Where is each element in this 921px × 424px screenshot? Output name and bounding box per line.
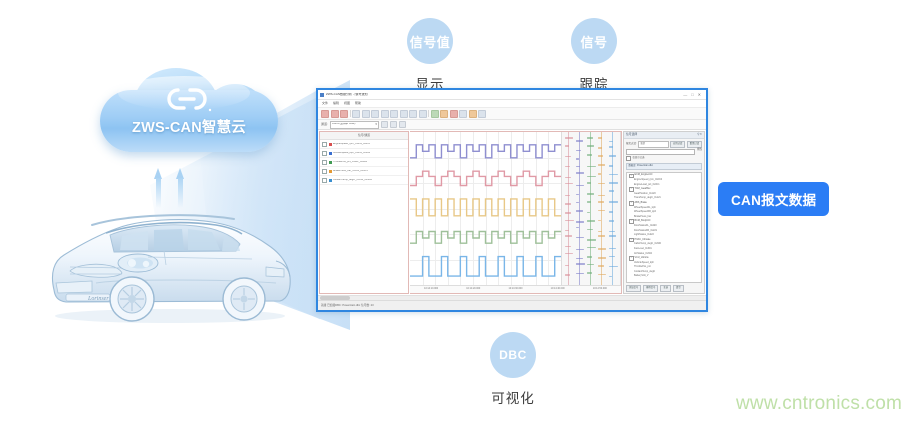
trace-marker xyxy=(576,273,584,274)
trace-marker xyxy=(598,220,601,221)
trace-marker xyxy=(565,274,570,275)
dbc-signal-tree[interactable]: +ECM_EngineCtrlEngineSpeed_rpm_0x0C0Engi… xyxy=(626,172,702,284)
trace-marker xyxy=(576,210,583,211)
trace-marker xyxy=(609,201,618,202)
checkbox-icon[interactable] xyxy=(322,142,327,147)
menu-item-view[interactable]: 视图 xyxy=(344,102,350,105)
app-icon xyxy=(320,93,324,97)
x-axis-tick: 10:14:10.000 xyxy=(424,288,438,291)
expand-icon[interactable]: + xyxy=(629,256,634,261)
dbc-panel-header: 信号选择 ⚲✕ xyxy=(624,132,704,139)
dbc-node-label: VehicleSpeed_kph xyxy=(634,262,654,265)
chart-icon[interactable] xyxy=(352,110,360,118)
trace-marker xyxy=(587,137,593,138)
trace-marker xyxy=(598,235,605,236)
trace-marker xyxy=(565,145,569,146)
trace-line xyxy=(579,132,580,285)
settings-icon[interactable] xyxy=(478,110,486,118)
dbc-node-label: TCM_GearBox xyxy=(635,188,651,191)
trace-marker xyxy=(598,210,605,211)
dbc-panel-title: 信号选择 xyxy=(626,133,637,136)
horizontal-scrollbar[interactable] xyxy=(318,295,706,300)
cloud-badge: ZWS-CAN智慧云 xyxy=(100,68,278,160)
dbc-node-label: WheelSpeedFR_kph xyxy=(634,211,656,214)
expand-icon[interactable]: + xyxy=(629,238,634,243)
dbc-node-label: TransTemp_degC_0x121 xyxy=(634,197,661,200)
signal-list-header: 信号/通道 xyxy=(320,132,408,140)
dbc-node-label: LightStatus_0x222 xyxy=(634,234,654,237)
application-window: ZWS-CAN数据分析 - [信号波形] — □ ✕ 文件 编辑 视图 帮助 xyxy=(316,88,708,312)
color-swatch xyxy=(329,170,332,173)
trace-marker xyxy=(598,173,601,174)
dbc-apply-filter-button[interactable]: 应用过滤 xyxy=(670,141,685,148)
trace-marker xyxy=(565,183,573,184)
trace-marker xyxy=(587,239,596,240)
main-toolbar xyxy=(318,108,706,120)
x-axis-tick: 10:14:20.000 xyxy=(466,288,480,291)
trace-marker xyxy=(609,190,614,191)
vehicle-illustration: Lorinser xyxy=(40,195,300,325)
cloud-label: ZWS-CAN智慧云 xyxy=(100,116,278,137)
dbc-footer-button[interactable]: 全选 xyxy=(660,285,671,292)
trace-marker xyxy=(609,155,616,156)
poster-stage: ZWS-CAN智慧云 xyxy=(0,0,921,424)
trace-marker xyxy=(609,235,616,236)
trace-marker xyxy=(598,201,604,202)
signal-name: ThrottlePos_pct_CAN1_0x2B1 xyxy=(333,161,367,164)
trace-marker xyxy=(565,212,571,213)
trace-marker xyxy=(587,154,592,155)
signal-name: CoolantTemp_degC_CAN1_0x4D9 xyxy=(333,179,372,182)
chevron-down-icon: ▾ xyxy=(375,123,378,126)
dbc-node-label: BrakePress_bar xyxy=(634,216,651,219)
x-axis-tick: 10:14:50.000 xyxy=(593,288,607,291)
checkbox-icon[interactable] xyxy=(322,178,327,183)
trace-marker xyxy=(565,137,573,138)
dbc-reset-filter-button[interactable]: 重置过滤 xyxy=(687,141,702,148)
trace-line xyxy=(568,132,569,285)
callout-dbc: DBC 可视化 xyxy=(489,332,537,407)
expand-icon[interactable]: + xyxy=(629,174,634,179)
stop-icon[interactable] xyxy=(450,110,458,118)
window-controls: — □ ✕ xyxy=(683,93,704,97)
waveform-trace xyxy=(410,137,561,163)
menu-item-edit[interactable]: 编辑 xyxy=(333,102,339,105)
pause-icon[interactable] xyxy=(440,110,448,118)
dbc-node-label: BCM_BodyCtrl xyxy=(635,220,651,223)
cloud-link-logo-icon xyxy=(158,82,216,118)
dbc-filter-value: 全部 xyxy=(640,143,645,146)
zoom-in-icon[interactable] xyxy=(371,110,379,118)
trace-marker xyxy=(609,174,618,175)
trace-marker xyxy=(587,220,595,221)
trace-marker xyxy=(587,272,592,273)
trace-marker xyxy=(565,220,574,221)
maximize-button[interactable]: □ xyxy=(691,93,693,97)
trace-marker xyxy=(576,172,584,173)
signal-list-item[interactable]: ThrottlePos_pct_CAN1_0x2B1 xyxy=(320,158,408,167)
dbc-search-row: 查找 xyxy=(626,149,702,155)
marker-icon[interactable] xyxy=(419,110,427,118)
trace-marker xyxy=(587,264,594,265)
trace-marker xyxy=(609,276,612,277)
waveform-plot[interactable] xyxy=(410,132,562,285)
close-button[interactable]: ✕ xyxy=(698,93,701,97)
callout-signal: 信号 跟踪 xyxy=(570,18,618,93)
dbc-filter-row: 报文过滤: 全部 应用过滤 重置过滤 xyxy=(624,139,704,149)
trace-marker xyxy=(598,164,605,165)
x-axis-tick: 10:14:30.000 xyxy=(508,288,522,291)
play-icon[interactable] xyxy=(381,121,388,128)
trace-marker xyxy=(609,141,613,142)
trace-marker xyxy=(598,231,602,232)
minimize-button[interactable]: — xyxy=(683,93,687,97)
dbc-node-label: DoorStatusFL_0x220 xyxy=(634,225,657,228)
trace-marker xyxy=(576,140,583,141)
trace-marker xyxy=(598,265,604,266)
pin-icon[interactable]: ⚲✕ xyxy=(697,133,702,136)
svg-text:Lorinser: Lorinser xyxy=(87,296,109,302)
chart-panel: 10:14:10.00010:14:20.00010:14:30.00010:1… xyxy=(410,131,622,294)
callout-circle-label: DBC xyxy=(490,332,536,378)
trace-marker xyxy=(576,249,584,250)
toolbar-separator xyxy=(350,110,351,117)
menu-item-help[interactable]: 帮助 xyxy=(355,102,361,105)
dbc-footer-button[interactable]: 清空 xyxy=(673,285,684,292)
dbc-signal-panel: 信号选择 ⚲✕ 报文过滤: 全部 应用过滤 重置过滤 查找 xyxy=(623,131,705,294)
site-watermark: www.cntronics.com xyxy=(736,393,902,415)
signal-list-item[interactable]: VehicleSpeed_kph_CAN1_0x1A0 xyxy=(320,149,408,158)
trace-marker xyxy=(587,212,590,213)
signal-trace-panel[interactable] xyxy=(562,132,621,285)
dbc-node-label: EngineSpeed_rpm_0x0C0 xyxy=(634,179,662,182)
trace-marker xyxy=(576,258,583,259)
open-icon[interactable] xyxy=(321,110,329,118)
dbc-node-label: FanLevel_0x301 xyxy=(634,248,652,251)
dbc-node-label: ThrottlePos_pct xyxy=(634,266,651,269)
dbc-search-button[interactable]: 查找 xyxy=(697,149,702,155)
trace-marker xyxy=(576,221,584,222)
color-swatch xyxy=(329,161,332,164)
measure-icon[interactable] xyxy=(409,110,417,118)
channel-toolbar: 通道: CAN1 (波特率 500k) ▾ xyxy=(318,120,706,130)
trace-marker xyxy=(609,256,615,257)
dbc-node-label: ECM_EngineCtrl xyxy=(635,174,653,177)
dbc-filter-label: 报文过滤: xyxy=(626,143,637,146)
trace-marker xyxy=(587,145,594,146)
callout-signal-value: 信号值 显示 xyxy=(406,18,454,93)
expand-icon[interactable]: + xyxy=(629,187,634,192)
status-bar: 就绪 已加载DBC: Powertrain.dbc 信号数: 23 xyxy=(318,300,706,310)
trace-marker xyxy=(609,165,613,166)
signal-list-item[interactable]: BrakePress_bar_CAN1_0x3C4 xyxy=(320,167,408,176)
color-swatch xyxy=(329,152,332,155)
filter-icon[interactable] xyxy=(469,110,477,118)
record-icon[interactable] xyxy=(340,110,348,118)
dbc-footer-button[interactable]: 添加信号 xyxy=(626,285,641,292)
play-icon[interactable] xyxy=(431,110,439,118)
trace-marker xyxy=(587,193,594,194)
zoom-out-icon[interactable] xyxy=(381,110,389,118)
cursor-icon[interactable] xyxy=(400,110,408,118)
trace-marker xyxy=(587,182,591,183)
dbc-search-input[interactable] xyxy=(626,149,695,155)
dbc-node-label: WheelSpeedFL_kph xyxy=(634,207,656,210)
expand-icon[interactable]: + xyxy=(629,219,634,224)
trace-marker xyxy=(565,156,571,157)
export-icon[interactable] xyxy=(459,110,467,118)
window-titlebar: ZWS-CAN数据分析 - [信号波形] — □ ✕ xyxy=(318,90,706,100)
trace-marker xyxy=(576,202,579,203)
signal-name: VehicleSpeed_kph_CAN1_0x1A0 xyxy=(333,152,370,155)
expand-icon[interactable]: + xyxy=(629,201,634,206)
signal-list-panel: 信号/通道 EngineSpeed_rpm_CAN1_0x0C0VehicleS… xyxy=(319,131,409,294)
toolbar-separator xyxy=(428,110,429,117)
trace-marker xyxy=(587,256,592,257)
channel-select-value: CAN1 (波特率 500k) xyxy=(332,123,375,126)
stop-icon[interactable] xyxy=(390,121,397,128)
trace-marker xyxy=(598,147,602,148)
dbc-database-bar: 数据库: Powertrain.dbc xyxy=(626,163,702,171)
delete-icon[interactable] xyxy=(399,121,406,128)
dbc-node-label: DoorStatusFR_0x221 xyxy=(634,230,657,233)
signal-list-item[interactable]: EngineSpeed_rpm_CAN1_0x0C0 xyxy=(320,140,408,149)
signal-name: EngineSpeed_rpm_CAN1_0x0C0 xyxy=(333,143,370,146)
trace-marker xyxy=(598,195,605,196)
waveform-trace xyxy=(410,166,561,192)
trace-marker xyxy=(598,155,603,156)
workspace: 信号/通道 EngineSpeed_rpm_CAN1_0x0C0VehicleS… xyxy=(318,130,706,295)
channel-select[interactable]: CAN1 (波特率 500k) ▾ xyxy=(330,121,379,129)
checkbox-icon[interactable] xyxy=(322,169,327,174)
trace-marker xyxy=(565,235,572,236)
signal-name: BrakePress_bar_CAN1_0x3C4 xyxy=(333,170,368,173)
trace-marker xyxy=(609,182,618,183)
signal-rows: EngineSpeed_rpm_CAN1_0x0C0VehicleSpeed_k… xyxy=(320,140,408,185)
trace-marker xyxy=(587,166,596,167)
checkbox-icon xyxy=(626,156,631,161)
chart-row xyxy=(410,132,621,285)
dbc-node-label: VCU_Vehicle xyxy=(635,257,649,260)
trace-marker xyxy=(576,158,579,159)
callout-circle-label: 信号 xyxy=(571,18,617,64)
checkbox-icon[interactable] xyxy=(322,151,327,156)
callout-circle-label: 信号值 xyxy=(407,18,453,64)
trace-marker xyxy=(576,166,580,167)
signal-list-item[interactable]: CoolantTemp_degC_CAN1_0x4D9 xyxy=(320,176,408,185)
trace-marker xyxy=(576,263,585,264)
trace-marker xyxy=(598,248,606,249)
dbc-node-label: BatteryVolt_V xyxy=(634,275,649,278)
color-swatch xyxy=(329,143,332,146)
trace-marker xyxy=(587,247,596,248)
dbc-checkbox-label: 仅显示已选 xyxy=(633,157,645,160)
dbc-node-label: EngineLoad_pct_0x0C1 xyxy=(634,184,660,187)
save-icon[interactable] xyxy=(331,110,339,118)
trace-marker xyxy=(609,146,613,147)
waveform-trace xyxy=(410,225,561,251)
dbc-filter-select[interactable]: 全部 xyxy=(638,141,668,148)
scrollbar-thumb[interactable] xyxy=(320,296,350,300)
dbc-node-label: ACStatus_0x302 xyxy=(634,253,652,256)
trace-marker xyxy=(609,211,613,212)
trace-marker xyxy=(565,203,571,204)
trace-marker xyxy=(598,257,606,258)
trace-marker xyxy=(598,137,602,138)
menu-bar: 文件 编辑 视图 帮助 xyxy=(318,100,706,108)
dbc-tree-signal[interactable]: BatteryVolt_V xyxy=(627,275,701,280)
x-axis-tick: 10:14:40.000 xyxy=(551,288,565,291)
channel-label: 通道: xyxy=(321,123,328,126)
trace-marker xyxy=(587,176,596,177)
window-title: ZWS-CAN数据分析 - [信号波形] xyxy=(326,93,368,96)
trace-marker xyxy=(609,220,614,221)
fit-icon[interactable] xyxy=(390,110,398,118)
trace-marker xyxy=(576,185,584,186)
trace-marker xyxy=(576,194,579,195)
trace-marker xyxy=(565,195,570,196)
callout-caption: 可视化 xyxy=(489,387,537,407)
waveform-trace xyxy=(410,195,561,221)
dbc-footer-buttons: 添加信号移除信号全选清空 xyxy=(624,283,704,293)
trace-marker xyxy=(587,201,591,202)
dbc-footer-button[interactable]: 移除信号 xyxy=(643,285,658,292)
color-swatch xyxy=(329,179,332,182)
trace-marker xyxy=(609,248,616,249)
can-data-tag: CAN报文数据 xyxy=(718,182,829,216)
waveform-trace xyxy=(410,254,561,280)
menu-item-file[interactable]: 文件 xyxy=(322,102,328,105)
dbc-node-label: CoolantTemp_degC xyxy=(634,271,655,274)
x-axis-ticks: 10:14:10.00010:14:20.00010:14:30.00010:1… xyxy=(410,285,621,293)
dbc-node-label: CabinTemp_degC_0x300 xyxy=(634,243,661,246)
dbc-node-label: ABS_Brake xyxy=(635,202,647,205)
checkbox-icon[interactable] xyxy=(322,160,327,165)
trace-marker xyxy=(565,177,571,178)
grid-icon[interactable] xyxy=(362,110,370,118)
trace-marker xyxy=(609,266,618,267)
dbc-node-label: HVAC_Climate xyxy=(635,239,651,242)
dbc-node-label: GearPosition_0x120 xyxy=(634,193,656,196)
